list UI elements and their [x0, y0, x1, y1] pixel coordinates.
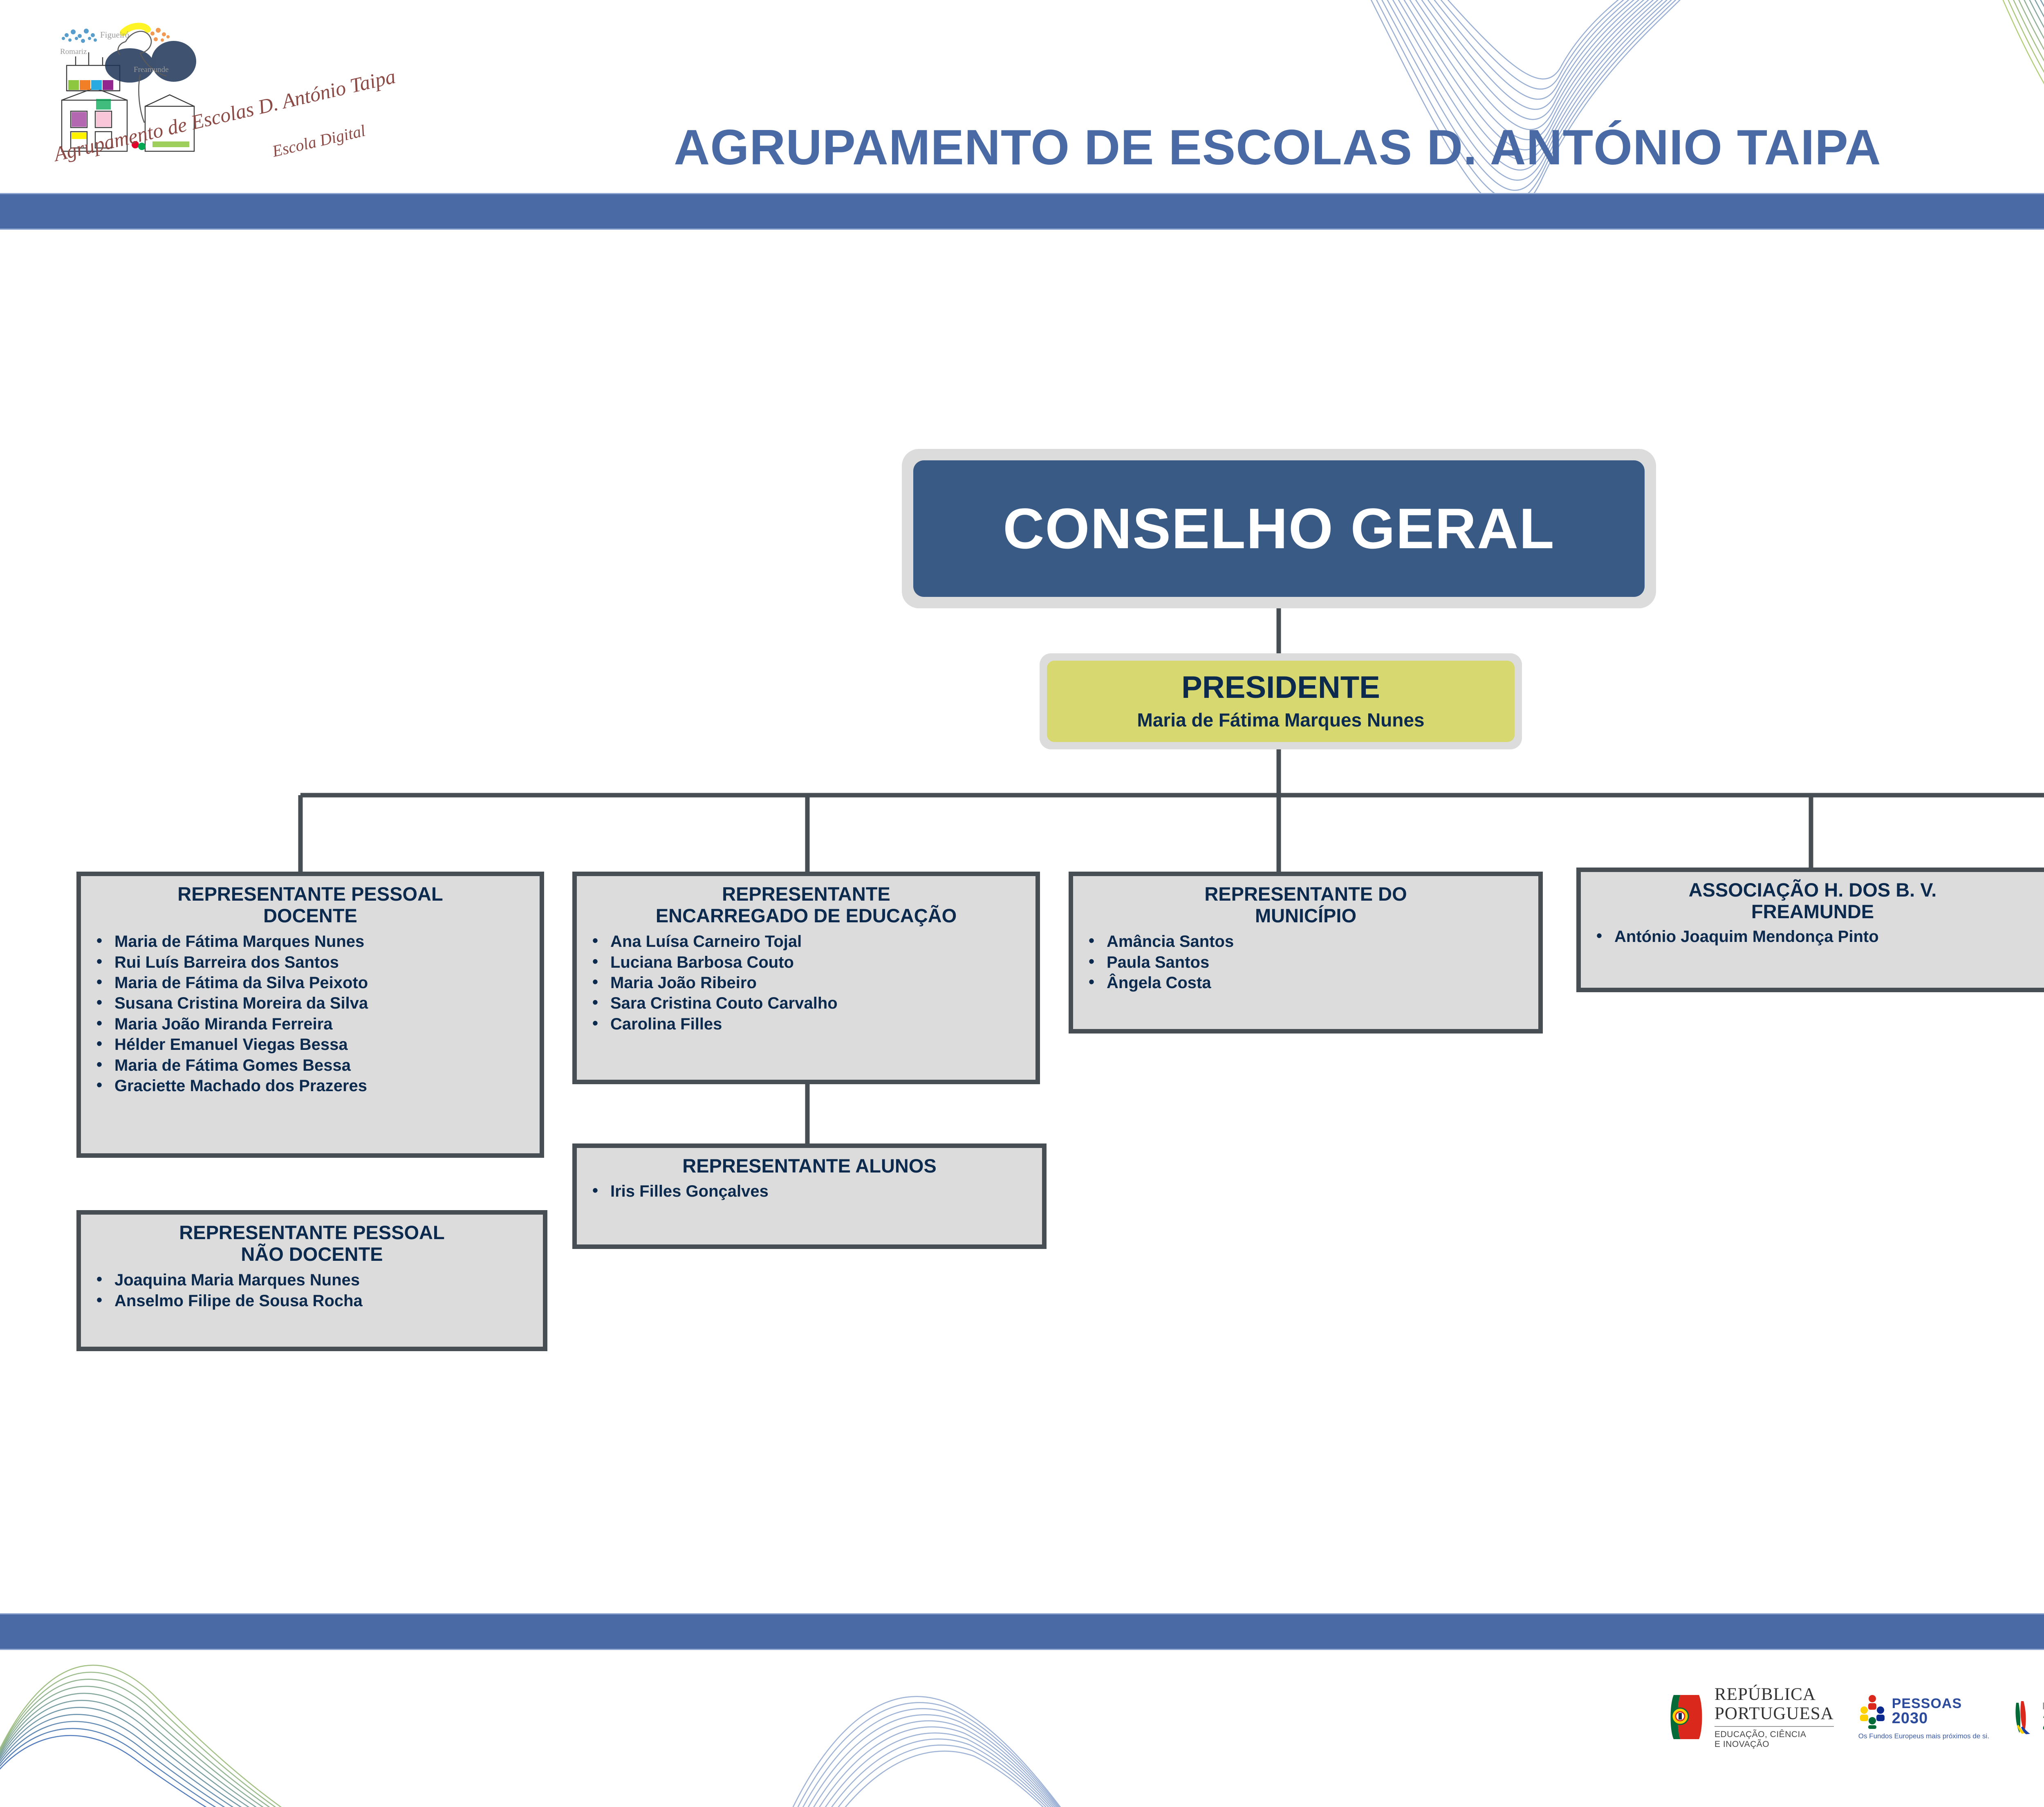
portugal-flag-icon: [2014, 1699, 2037, 1735]
list-item: Graciette Machado dos Prazeres: [93, 1076, 531, 1096]
node-title: ASSOCIAÇÃO H. DOS B. V. FREAMUNDE: [1589, 879, 2036, 922]
logo-sub1: EDUCAÇÃO, CIÊNCIA: [1715, 1730, 1834, 1739]
list-item: Maria de Fátima Gomes Bessa: [93, 1055, 531, 1076]
list-item: Ana Luísa Carneiro Tojal: [589, 931, 1027, 952]
node-representante-municipio[interactable]: REPRESENTANTE DO MUNICÍPIO Amância Santo…: [1069, 872, 1543, 1034]
list-item: Susana Cristina Moreira da Silva: [93, 993, 531, 1013]
node-conselho-geral[interactable]: CONSELHO GERAL: [902, 449, 1656, 608]
list-item: Paula Santos: [1085, 952, 1530, 973]
node-title: REPRESENTANTE PESSOAL NÃO DOCENTE: [89, 1222, 535, 1265]
member-list: Iris Filles Gonçalves: [585, 1181, 1034, 1202]
node-presidente[interactable]: PRESIDENTE Maria de Fátima Marques Nunes: [1040, 653, 1522, 749]
footer-accent-bar: [0, 1613, 2044, 1650]
node-title: REPRESENTANTE DO MUNICÍPIO: [1081, 883, 1530, 926]
list-item: Maria João Miranda Ferreira: [93, 1014, 531, 1034]
list-item: Maria de Fátima da Silva Peixoto: [93, 973, 531, 993]
node-conselho-geral-inner: CONSELHO GERAL: [913, 460, 1645, 597]
list-item: Sara Cristina Couto Carvalho: [589, 993, 1027, 1013]
node-title: REPRESENTANTE ALUNOS: [585, 1155, 1034, 1177]
logo-line2: 2030: [2042, 1711, 2044, 1732]
logo-sub2: E INOVAÇÃO: [1715, 1740, 1834, 1749]
divider: [1715, 1726, 1834, 1727]
pessoas-figures-icon: [1858, 1694, 1887, 1729]
logo-line2: 2030: [1892, 1711, 1962, 1726]
node-representante-pessoal-nao-docente[interactable]: REPRESENTANTE PESSOAL NÃO DOCENTE Joaqui…: [76, 1210, 547, 1351]
logo-line2: PORTUGUESA: [1715, 1705, 1834, 1722]
node-presidente-name: Maria de Fátima Marques Nunes: [1137, 709, 1425, 731]
member-list: Amância Santos Paula Santos Ângela Costa: [1081, 931, 1530, 993]
node-title: REPRESENTANTE ENCARREGADO DE EDUCAÇÃO: [585, 883, 1027, 926]
member-list: Maria de Fátima Marques Nunes Rui Luís B…: [89, 931, 531, 1096]
logo-sub1: Os Fundos Europeus mais próximos de si.: [1858, 1732, 1989, 1740]
node-associacao-bombeiros-freamunde[interactable]: ASSOCIAÇÃO H. DOS B. V. FREAMUNDE Antóni…: [1576, 868, 2044, 992]
list-item: Amância Santos: [1085, 931, 1530, 952]
member-list: Joaquina Maria Marques Nunes Anselmo Fil…: [89, 1270, 535, 1311]
list-item: Maria João Ribeiro: [589, 973, 1027, 993]
list-item: Rui Luís Barreira dos Santos: [93, 952, 531, 973]
node-conselho-geral-label: CONSELHO GERAL: [1003, 495, 1555, 562]
node-representante-alunos[interactable]: REPRESENTANTE ALUNOS Iris Filles Gonçalv…: [572, 1143, 1047, 1249]
logo-line1: REPÚBLICA: [1715, 1686, 1834, 1703]
list-item: Joaquina Maria Marques Nunes: [93, 1270, 535, 1290]
logo-line1: PESSOAS: [1892, 1697, 1962, 1711]
list-item: Iris Filles Gonçalves: [589, 1181, 1034, 1202]
org-chart: CONSELHO GERAL PRESIDENTE Maria de Fátim…: [0, 0, 2044, 1807]
footer-logo-strip: REPÚBLICA PORTUGUESA EDUCAÇÃO, CIÊNCIA E…: [1668, 1666, 2044, 1768]
logo-republica-portuguesa: REPÚBLICA PORTUGUESA EDUCAÇÃO, CIÊNCIA E…: [1668, 1686, 1834, 1749]
list-item: Ângela Costa: [1085, 973, 1530, 993]
node-representante-encarregado-educacao[interactable]: REPRESENTANTE ENCARREGADO DE EDUCAÇÃO An…: [572, 872, 1040, 1084]
list-item: António Joaquim Mendonça Pinto: [1593, 926, 2036, 947]
list-item: Carolina Filles: [589, 1014, 1027, 1034]
member-list: António Joaquim Mendonça Pinto: [1589, 926, 2036, 947]
list-item: Luciana Barbosa Couto: [589, 952, 1027, 973]
logo-portugal-2030: PORTUGAL 2030: [2014, 1699, 2044, 1735]
list-item: Hélder Emanuel Viegas Bessa: [93, 1034, 531, 1055]
node-presidente-title: PRESIDENTE: [1181, 672, 1380, 703]
portugal-shield-icon: [1668, 1693, 1706, 1742]
node-presidente-inner: PRESIDENTE Maria de Fátima Marques Nunes: [1047, 661, 1515, 742]
node-representante-pessoal-docente[interactable]: REPRESENTANTE PESSOAL DOCENTE Maria de F…: [76, 872, 544, 1158]
list-item: Anselmo Filipe de Sousa Rocha: [93, 1291, 535, 1311]
list-item: Maria de Fátima Marques Nunes: [93, 931, 531, 952]
member-list: Ana Luísa Carneiro Tojal Luciana Barbosa…: [585, 931, 1027, 1034]
node-title: REPRESENTANTE PESSOAL DOCENTE: [89, 883, 531, 926]
logo-pessoas-2030: PESSOAS 2030 Os Fundos Europeus mais pró…: [1858, 1694, 1989, 1740]
